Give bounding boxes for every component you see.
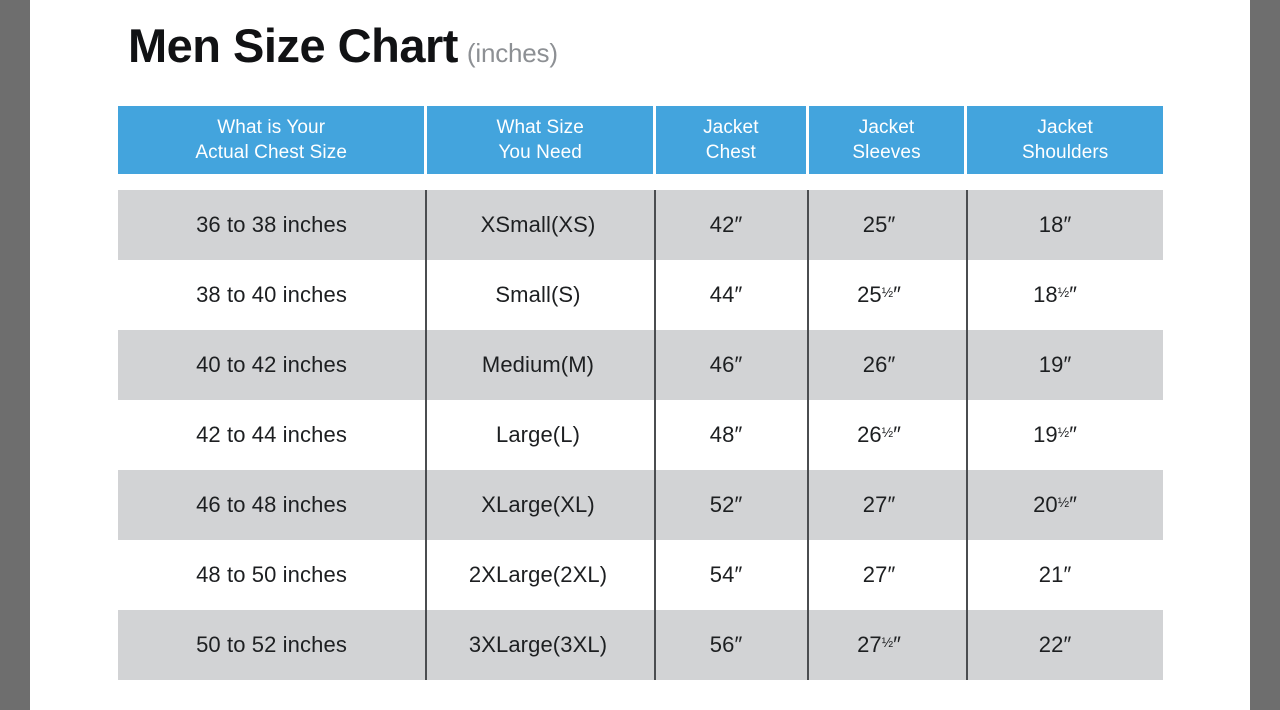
cell-jacket-shoulders: 20½″ xyxy=(957,470,1153,540)
cell-jacket-chest: 54″ xyxy=(651,540,801,610)
cell-jacket-sleeves: 26″ xyxy=(801,330,957,400)
size-chart-table: What is Your Actual Chest Size What Size… xyxy=(118,106,1163,680)
cell-chest-size: 40 to 42 inches xyxy=(118,330,425,400)
cell-chest-size: 48 to 50 inches xyxy=(118,540,425,610)
table-row: 40 to 42 inchesMedium(M)46″26″19″ xyxy=(118,330,1163,400)
cell-jacket-chest: 44″ xyxy=(651,260,801,330)
half-fraction: ½ xyxy=(882,635,893,650)
column-header-line-1: Jacket xyxy=(703,115,759,140)
inch-mark: ″ xyxy=(1069,282,1077,308)
cell-chest-size: 38 to 40 inches xyxy=(118,260,425,330)
column-header-line-2: Chest xyxy=(706,140,756,165)
half-fraction: ½ xyxy=(882,285,893,300)
cell-jacket-chest: 52″ xyxy=(651,470,801,540)
cell-jacket-shoulders: 22″ xyxy=(957,610,1153,680)
cell-jacket-sleeves: 26½″ xyxy=(801,400,957,470)
cell-jacket-shoulders: 19½″ xyxy=(957,400,1153,470)
cell-jacket-sleeves: 27½″ xyxy=(801,610,957,680)
cell-jacket-chest: 46″ xyxy=(651,330,801,400)
column-divider-3 xyxy=(807,190,809,680)
column-header-line-2: Shoulders xyxy=(1022,140,1108,165)
page-title-main: Men Size Chart xyxy=(128,18,458,73)
column-header-line-1: Jacket xyxy=(859,115,915,140)
cell-jacket-shoulders: 18½″ xyxy=(957,260,1153,330)
cell-jacket-chest: 56″ xyxy=(651,610,801,680)
cell-jacket-shoulders: 21″ xyxy=(957,540,1153,610)
right-edge-bar xyxy=(1250,0,1280,710)
table-body: 36 to 38 inchesXSmall(XS)42″25″18″38 to … xyxy=(118,190,1163,680)
column-header-size-you-need: What Size You Need xyxy=(427,106,653,174)
cell-jacket-sleeves: 27″ xyxy=(801,540,957,610)
column-header-jacket-sleeves: Jacket Sleeves xyxy=(809,106,965,174)
column-header-line-1: Jacket xyxy=(1037,115,1093,140)
cell-size-needed: 2XLarge(2XL) xyxy=(425,540,651,610)
inch-mark: ″ xyxy=(887,492,895,518)
inch-mark: ″ xyxy=(734,492,742,518)
half-fraction: ½ xyxy=(1058,425,1069,440)
inch-mark: ″ xyxy=(887,562,895,588)
table-row: 38 to 40 inchesSmall(S)44″25½″18½″ xyxy=(118,260,1163,330)
cell-size-needed: XLarge(XL) xyxy=(425,470,651,540)
cell-jacket-chest: 42″ xyxy=(651,190,801,260)
half-fraction: ½ xyxy=(882,425,893,440)
table-row: 36 to 38 inchesXSmall(XS)42″25″18″ xyxy=(118,190,1163,260)
inch-mark: ″ xyxy=(734,212,742,238)
inch-mark: ″ xyxy=(893,632,901,658)
half-fraction: ½ xyxy=(1058,285,1069,300)
inch-mark: ″ xyxy=(887,212,895,238)
cell-jacket-sleeves: 25½″ xyxy=(801,260,957,330)
inch-mark: ″ xyxy=(893,282,901,308)
left-edge-bar xyxy=(0,0,30,710)
column-divider-1 xyxy=(425,190,427,680)
inch-mark: ″ xyxy=(1069,422,1077,448)
column-divider-2 xyxy=(654,190,656,680)
inch-mark: ″ xyxy=(734,632,742,658)
column-header-line-2: Sleeves xyxy=(852,140,920,165)
table-row: 42 to 44 inchesLarge(L)48″26½″19½″ xyxy=(118,400,1163,470)
inch-mark: ″ xyxy=(734,282,742,308)
half-fraction: ½ xyxy=(1058,495,1069,510)
cell-chest-size: 42 to 44 inches xyxy=(118,400,425,470)
cell-jacket-sleeves: 25″ xyxy=(801,190,957,260)
column-header-line-2: You Need xyxy=(498,140,582,165)
inch-mark: ″ xyxy=(734,352,742,378)
column-header-line-1: What Size xyxy=(496,115,584,140)
table-row: 50 to 52 inches3XLarge(3XL)56″27½″22″ xyxy=(118,610,1163,680)
cell-size-needed: 3XLarge(3XL) xyxy=(425,610,651,680)
cell-size-needed: XSmall(XS) xyxy=(425,190,651,260)
column-header-jacket-shoulders: Jacket Shoulders xyxy=(967,106,1163,174)
cell-chest-size: 50 to 52 inches xyxy=(118,610,425,680)
cell-size-needed: Small(S) xyxy=(425,260,651,330)
column-header-line-1: What is Your xyxy=(217,115,325,140)
cell-jacket-chest: 48″ xyxy=(651,400,801,470)
inch-mark: ″ xyxy=(1063,212,1071,238)
column-divider-4 xyxy=(966,190,968,680)
cell-chest-size: 36 to 38 inches xyxy=(118,190,425,260)
table-header-row: What is Your Actual Chest Size What Size… xyxy=(118,106,1163,174)
inch-mark: ″ xyxy=(1063,632,1071,658)
page-title: Men Size Chart (inches) xyxy=(128,18,558,73)
cell-chest-size: 46 to 48 inches xyxy=(118,470,425,540)
cell-jacket-shoulders: 18″ xyxy=(957,190,1153,260)
page-title-units: (inches) xyxy=(467,38,558,69)
inch-mark: ″ xyxy=(1063,562,1071,588)
inch-mark: ″ xyxy=(1063,352,1071,378)
cell-size-needed: Large(L) xyxy=(425,400,651,470)
inch-mark: ″ xyxy=(1069,492,1077,518)
inch-mark: ″ xyxy=(734,422,742,448)
slide-canvas: Men Size Chart (inches) What is Your Act… xyxy=(30,0,1250,710)
cell-jacket-sleeves: 27″ xyxy=(801,470,957,540)
inch-mark: ″ xyxy=(887,352,895,378)
inch-mark: ″ xyxy=(734,562,742,588)
table-row: 46 to 48 inchesXLarge(XL)52″27″20½″ xyxy=(118,470,1163,540)
inch-mark: ″ xyxy=(893,422,901,448)
column-header-actual-chest-size: What is Your Actual Chest Size xyxy=(118,106,424,174)
column-header-line-2: Actual Chest Size xyxy=(195,140,347,165)
table-row: 48 to 50 inches2XLarge(2XL)54″27″21″ xyxy=(118,540,1163,610)
cell-jacket-shoulders: 19″ xyxy=(957,330,1153,400)
cell-size-needed: Medium(M) xyxy=(425,330,651,400)
column-header-jacket-chest: Jacket Chest xyxy=(656,106,806,174)
